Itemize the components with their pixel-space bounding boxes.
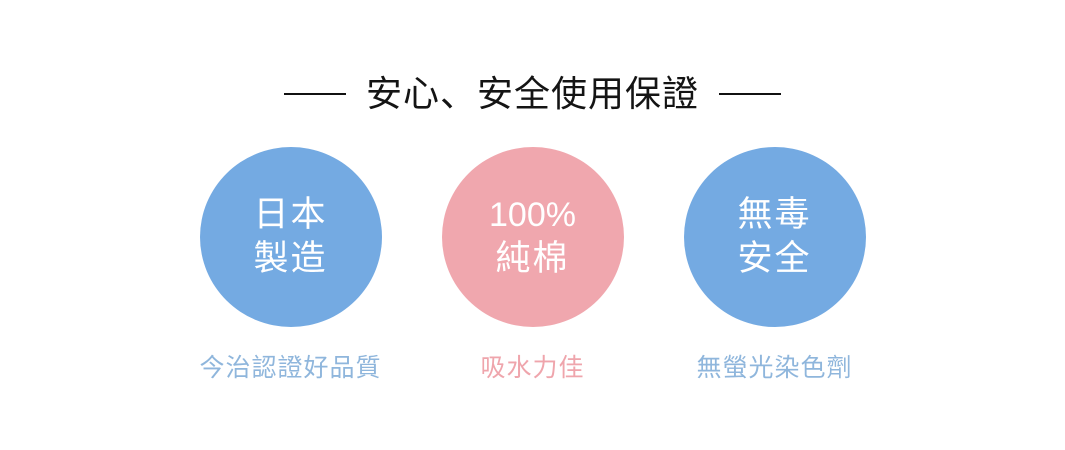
badge-circle-made-in-japan: 日本 製造 [200, 147, 382, 327]
page-title: 安心、安全使用保證 [366, 68, 699, 120]
badge-line-1: 100% [489, 193, 576, 237]
badge-line-2: 安全 [737, 237, 811, 281]
badge-caption-non-toxic-safe: 無螢光染色劑 [696, 351, 852, 385]
badge-circle-non-toxic-safe: 無毒 安全 [684, 147, 866, 327]
badge-line-1: 無毒 [737, 193, 811, 237]
heading-right-rule-icon [719, 93, 781, 95]
badge-caption-pure-cotton: 吸水力佳 [480, 351, 584, 385]
feature-badge-list: 日本 製造 今治認證好品質 100% 純棉 吸水力佳 無毒 安全 無螢光染色劑 [0, 147, 1065, 385]
badge-line-1: 日本 [253, 193, 327, 237]
badge-caption-made-in-japan: 今治認證好品質 [200, 351, 382, 385]
banner-heading: 安心、安全使用保證 [0, 68, 1065, 120]
badge-circle-pure-cotton: 100% 純棉 [442, 147, 624, 327]
heading-left-rule-icon [284, 93, 346, 95]
badge-line-2: 純棉 [495, 237, 569, 281]
product-guarantee-banner: 安心、安全使用保證 日本 製造 今治認證好品質 100% 純棉 吸水力佳 無毒 … [0, 0, 1065, 450]
feature-made-in-japan: 日本 製造 今治認證好品質 [200, 147, 382, 385]
badge-line-2: 製造 [253, 237, 327, 281]
feature-non-toxic-safe: 無毒 安全 無螢光染色劑 [684, 147, 866, 385]
feature-pure-cotton: 100% 純棉 吸水力佳 [442, 147, 624, 385]
